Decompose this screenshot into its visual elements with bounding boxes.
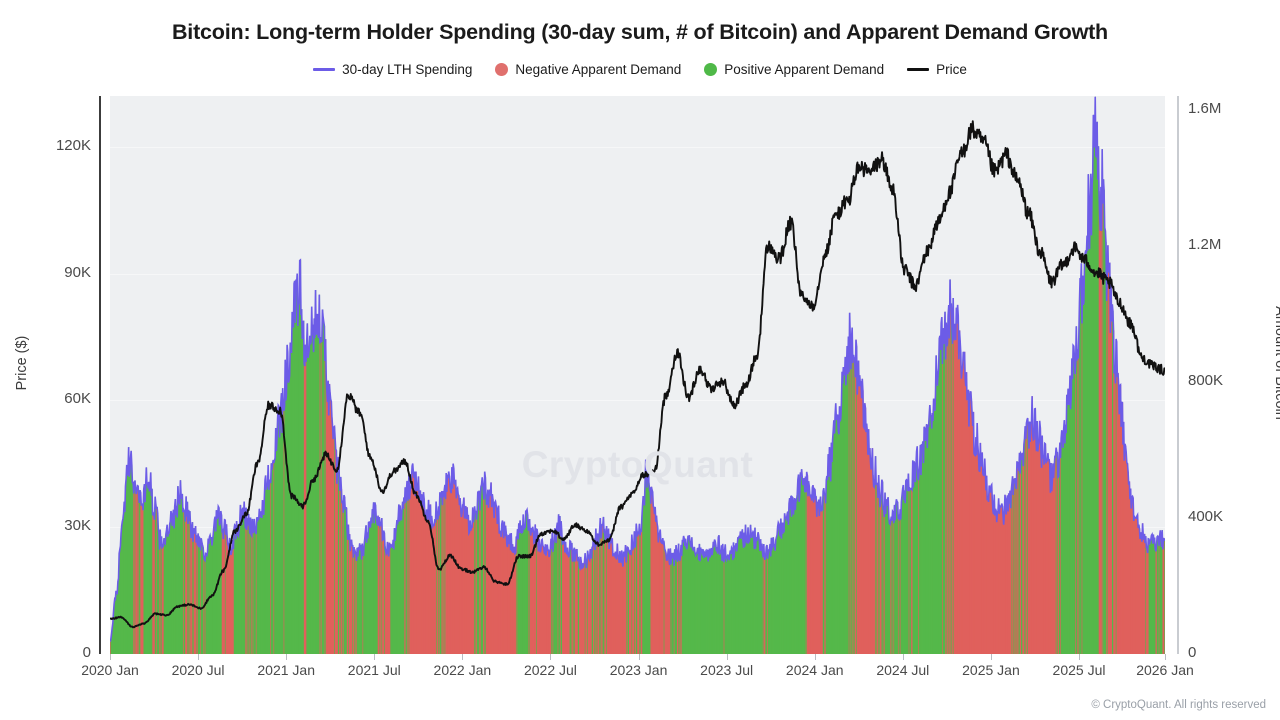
y-axis-right-tick: 0: [1188, 644, 1196, 661]
y-axis-left-title: Price ($): [14, 303, 30, 423]
legend-dot-icon: [704, 63, 717, 76]
legend-line-icon: [907, 68, 929, 71]
legend-line-icon: [313, 68, 335, 71]
series-canvas: [110, 96, 1165, 654]
demand-bar: [1164, 538, 1165, 654]
y-axis-right-tick: 800K: [1188, 372, 1223, 389]
x-axis-tickmark: [727, 654, 728, 660]
y-axis-right-title: Amount of Bitcoin: [1272, 283, 1280, 443]
legend-item-0[interactable]: 30-day LTH Spending: [313, 62, 472, 77]
y-axis-right-tick: 1.2M: [1188, 236, 1221, 253]
x-axis-tick: 2022 Jul: [524, 662, 577, 678]
x-axis-tickmark: [286, 654, 287, 660]
x-axis-tickmark: [110, 654, 111, 660]
legend-item-2[interactable]: Positive Apparent Demand: [704, 62, 884, 77]
x-axis-tick: 2020 Jan: [81, 662, 139, 678]
y-axis-right-tick: 400K: [1188, 508, 1223, 525]
y-axis-left-spine: [99, 96, 101, 654]
x-axis-tick: 2025 Jul: [1053, 662, 1106, 678]
x-axis-tick: 2022 Jan: [434, 662, 492, 678]
chart-root: Bitcoin: Long-term Holder Spending (30-d…: [0, 0, 1280, 720]
y-axis-right-tick: 1.6M: [1188, 100, 1221, 117]
page-title: Bitcoin: Long-term Holder Spending (30-d…: [0, 20, 1280, 45]
x-axis-tick: 2023 Jul: [700, 662, 753, 678]
x-axis-tick: 2021 Jan: [257, 662, 315, 678]
x-axis-tickmark: [1079, 654, 1080, 660]
chart-legend: 30-day LTH SpendingNegative Apparent Dem…: [0, 62, 1280, 77]
plot-area: CryptoQuant: [110, 96, 1165, 654]
x-axis-tickmark: [991, 654, 992, 660]
x-axis-tick: 2023 Jan: [610, 662, 668, 678]
x-axis-tick: 2021 Jul: [348, 662, 401, 678]
x-axis-tick: 2026 Jan: [1136, 662, 1194, 678]
x-axis-tick: 2025 Jan: [962, 662, 1020, 678]
legend-item-label: Price: [936, 62, 967, 77]
x-axis-tickmark: [462, 654, 463, 660]
y-axis-left-tick: 120K: [56, 137, 91, 154]
copyright-note: © CryptoQuant. All rights reserved: [1091, 699, 1266, 711]
y-axis-left-tick: 0: [83, 644, 91, 661]
legend-item-1[interactable]: Negative Apparent Demand: [495, 62, 681, 77]
x-axis-tickmark: [374, 654, 375, 660]
x-axis-tickmark: [1165, 654, 1166, 660]
x-axis-tick: 2020 Jul: [172, 662, 225, 678]
legend-item-label: Negative Apparent Demand: [515, 62, 681, 77]
x-axis-tickmark: [639, 654, 640, 660]
y-axis-left-tick: 60K: [64, 390, 91, 407]
x-axis-tickmark: [198, 654, 199, 660]
x-axis-tickmark: [550, 654, 551, 660]
x-axis-tick: 2024 Jul: [876, 662, 929, 678]
x-axis-tickmark: [903, 654, 904, 660]
demand-bars-group: [110, 97, 1165, 654]
y-axis-left-tick: 90K: [64, 264, 91, 281]
x-axis-tickmark: [815, 654, 816, 660]
legend-item-label: 30-day LTH Spending: [342, 62, 472, 77]
legend-dot-icon: [495, 63, 508, 76]
y-axis-right-spine: [1177, 96, 1179, 654]
x-axis-tick: 2024 Jan: [786, 662, 844, 678]
legend-item-3[interactable]: Price: [907, 62, 967, 77]
y-axis-left-tick: 30K: [64, 517, 91, 534]
legend-item-label: Positive Apparent Demand: [724, 62, 884, 77]
